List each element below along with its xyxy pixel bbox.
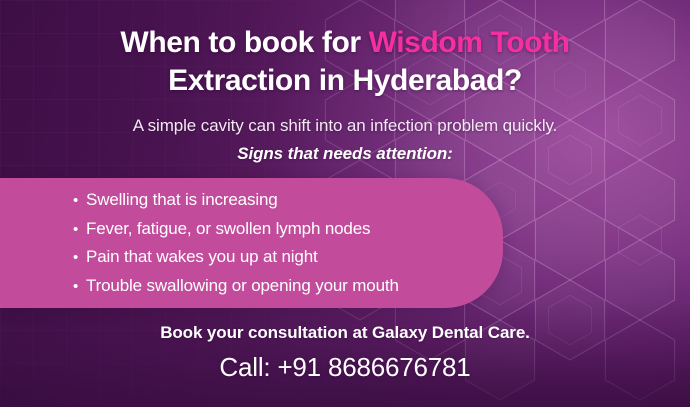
bullet-icon: • <box>73 216 86 244</box>
cta-text: Book your consultation at Galaxy Dental … <box>0 322 690 344</box>
headline-line2: Extraction in Hyderabad? <box>168 64 522 97</box>
bullet-icon: • <box>73 187 86 215</box>
symptoms-list: • Swelling that is increasing • Fever, f… <box>73 186 493 300</box>
headline-line1-accent: Wisdom Tooth <box>369 26 570 59</box>
bullet-icon: • <box>73 244 86 272</box>
list-item: • Trouble swallowing or opening your mou… <box>73 272 493 301</box>
list-item: • Pain that wakes you up at night <box>73 243 493 272</box>
list-item-label: Swelling that is increasing <box>86 186 278 214</box>
phone-number[interactable]: Call: +91 8686676781 <box>0 350 690 384</box>
headline-line1-plain: When to book for <box>120 26 368 59</box>
list-item-label: Pain that wakes you up at night <box>86 243 318 271</box>
headline: When to book for Wisdom Tooth Extraction… <box>0 24 690 100</box>
list-item: • Fever, fatigue, or swollen lymph nodes <box>73 215 493 244</box>
list-item-label: Fever, fatigue, or swollen lymph nodes <box>86 215 370 243</box>
promo-banner: When to book for Wisdom Tooth Extraction… <box>0 0 690 407</box>
signs-label: Signs that needs attention: <box>0 143 690 165</box>
bullet-icon: • <box>73 273 86 301</box>
subline: A simple cavity can shift into an infect… <box>0 115 690 137</box>
list-item: • Swelling that is increasing <box>73 186 493 215</box>
banner-content: When to book for Wisdom Tooth Extraction… <box>0 0 690 407</box>
list-item-label: Trouble swallowing or opening your mouth <box>86 272 399 300</box>
